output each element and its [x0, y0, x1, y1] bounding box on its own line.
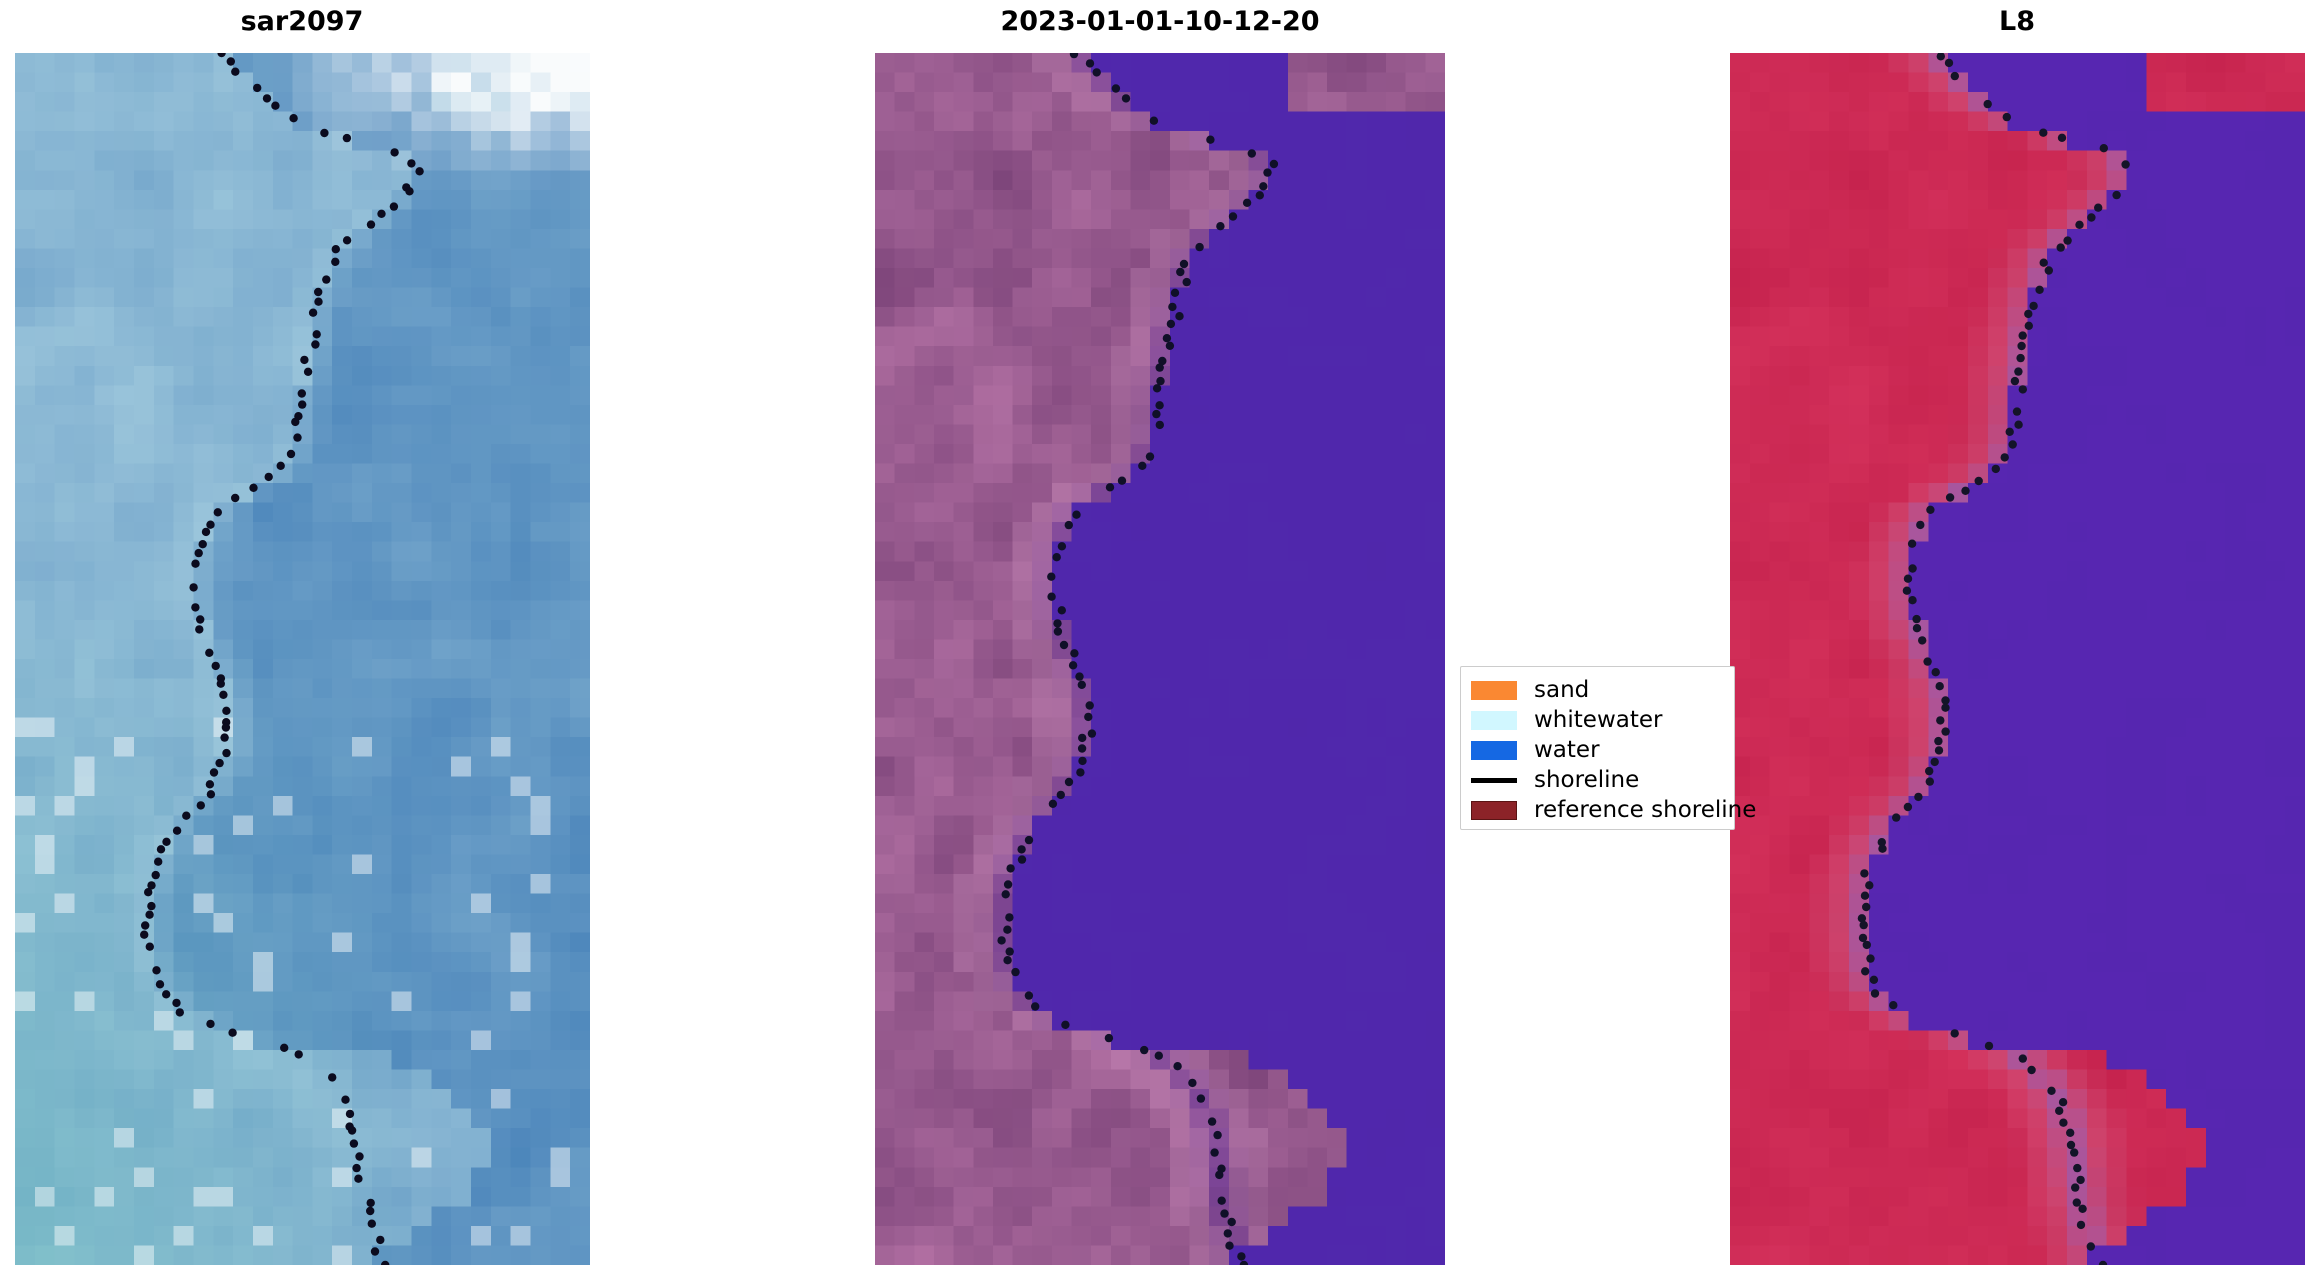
legend-label-reference-shoreline: reference shoreline [1534, 797, 1756, 823]
shoreline-line-icon [1471, 778, 1517, 783]
l8-image-panel[interactable] [1730, 53, 2305, 1265]
legend-label-water: water [1534, 737, 1600, 763]
panel-title-rgb: 2023-01-01-10-12-20 [760, 5, 1560, 39]
panel-title-l8: L8 [1617, 5, 2317, 39]
panel-title-sar: sar2097 [0, 5, 702, 39]
sar-image-panel[interactable] [15, 53, 590, 1265]
legend-item-reference-shoreline: reference shoreline [1471, 795, 1723, 825]
sand-swatch-icon [1471, 681, 1517, 700]
figure-canvas: sar2097 2023-01-01-10-12-20 L8 sand whit… [0, 0, 2317, 1283]
water-swatch-icon [1471, 741, 1517, 760]
legend-item-sand: sand [1471, 675, 1723, 705]
legend-item-shoreline: shoreline [1471, 765, 1723, 795]
rgb-image-panel[interactable] [875, 53, 1445, 1265]
legend-item-whitewater: whitewater [1471, 705, 1723, 735]
rgb-raster [875, 53, 1445, 1265]
legend-label-whitewater: whitewater [1534, 707, 1662, 733]
l8-raster [1730, 53, 2305, 1265]
legend-label-shoreline: shoreline [1534, 767, 1639, 793]
legend-label-sand: sand [1534, 677, 1589, 703]
whitewater-swatch-icon [1471, 711, 1517, 730]
legend-item-water: water [1471, 735, 1723, 765]
reference-shoreline-swatch-icon [1471, 801, 1517, 820]
sar-raster [15, 53, 590, 1265]
map-legend: sand whitewater water shoreline referenc… [1460, 666, 1735, 830]
